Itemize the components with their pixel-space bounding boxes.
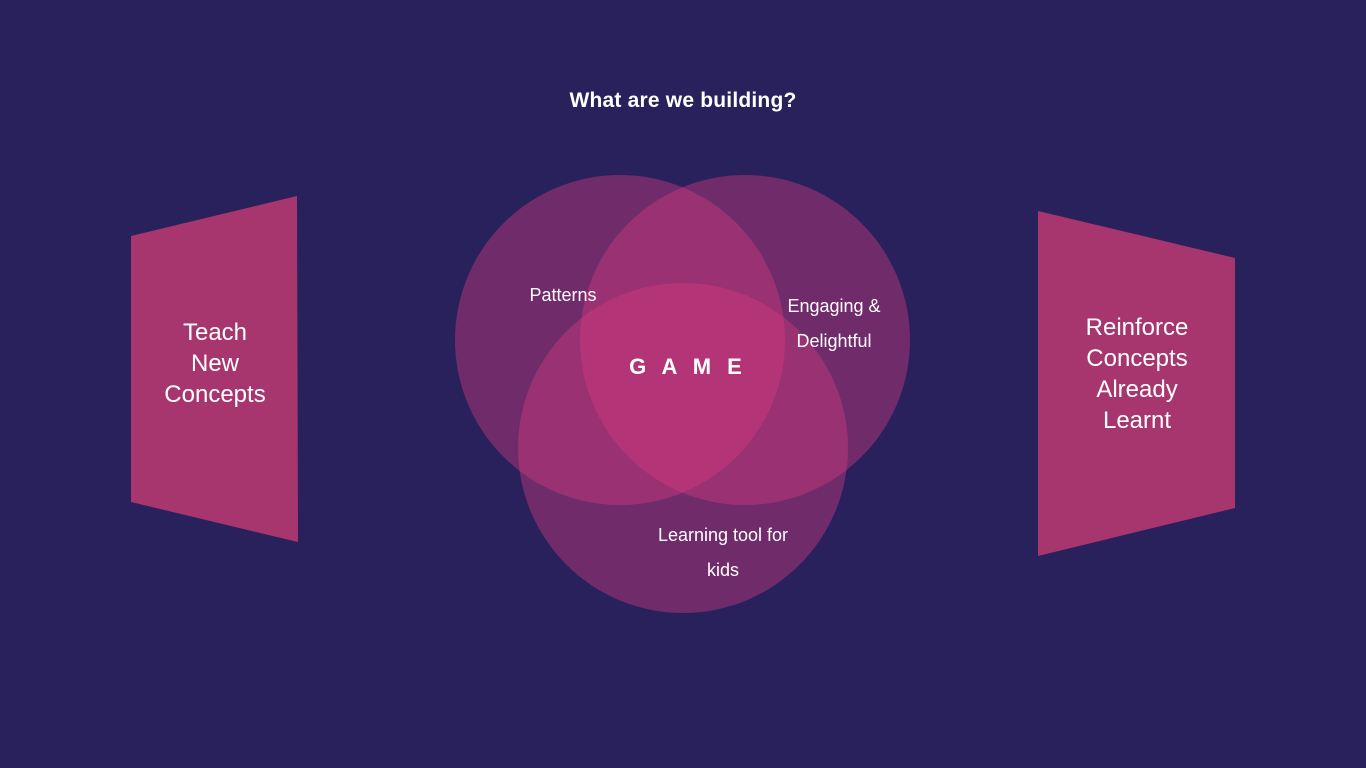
- panel-teach-new-concepts[interactable]: Teach New Concepts: [125, 190, 305, 550]
- venn-diagram: Patterns Engaging & Delightful Learning …: [440, 160, 930, 630]
- slide-canvas: What are we building? Teach New Concepts…: [0, 0, 1366, 768]
- left-trapezoid-shape: [125, 190, 305, 550]
- page-title: What are we building?: [0, 86, 1366, 116]
- venn-circle-learning: [518, 283, 848, 613]
- venn-circles: [440, 160, 930, 630]
- panel-reinforce-concepts[interactable]: Reinforce Concepts Already Learnt: [1032, 205, 1242, 565]
- right-trapezoid-shape: [1032, 205, 1242, 565]
